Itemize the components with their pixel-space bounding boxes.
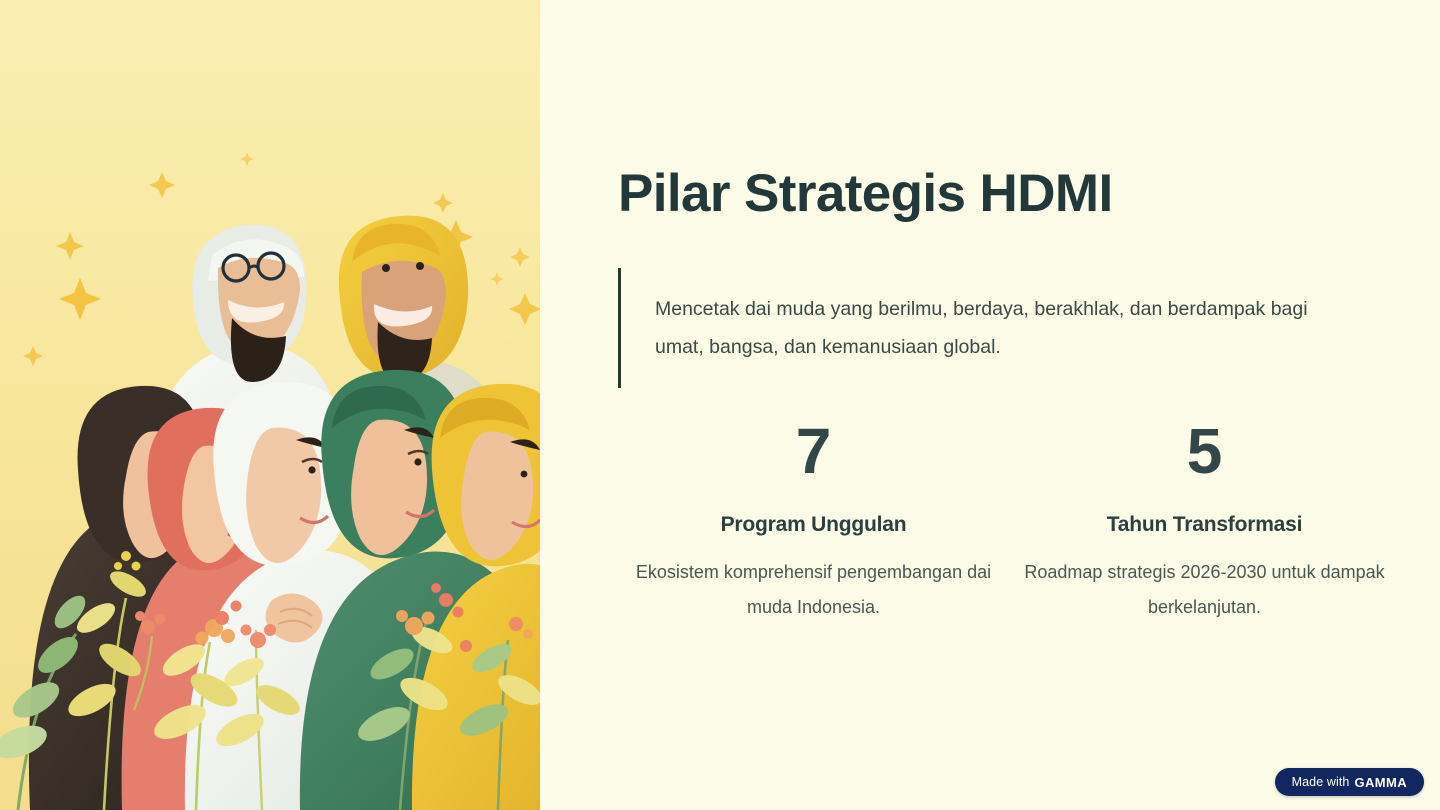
stat-label: Tahun Transformasi: [1017, 513, 1392, 537]
stat-description: Roadmap strategis 2026-2030 untuk dampak…: [1017, 555, 1392, 625]
stat-number: 7: [626, 418, 1001, 485]
stat-description: Ekosistem komprehensif pengembangan dai …: [626, 555, 1001, 625]
content-panel: Pilar Strategis HDMI Mencetak dai muda y…: [540, 0, 1440, 810]
mission-quote-text: Mencetak dai muda yang berilmu, berdaya,…: [655, 290, 1348, 366]
stats-row: 7 Program Unggulan Ekosistem komprehensi…: [618, 418, 1400, 625]
stat-label: Program Unggulan: [626, 513, 1001, 537]
made-with-gamma-badge[interactable]: Made with GAMMA: [1275, 768, 1424, 796]
stat-card-program-unggulan: 7 Program Unggulan Ekosistem komprehensi…: [618, 418, 1009, 625]
page-title: Pilar Strategis HDMI: [618, 163, 1113, 224]
stat-card-tahun-transformasi: 5 Tahun Transformasi Roadmap strategis 2…: [1009, 418, 1400, 625]
illustration-panel: [0, 0, 540, 810]
badge-made-with-label: Made with: [1292, 775, 1350, 789]
stat-number: 5: [1017, 418, 1392, 485]
badge-brand-label: GAMMA: [1354, 775, 1407, 790]
mission-quote-block: Mencetak dai muda yang berilmu, berdaya,…: [618, 268, 1348, 388]
group-of-muslim-youth-illustration: [0, 0, 540, 810]
slide-root: Pilar Strategis HDMI Mencetak dai muda y…: [0, 0, 1440, 810]
